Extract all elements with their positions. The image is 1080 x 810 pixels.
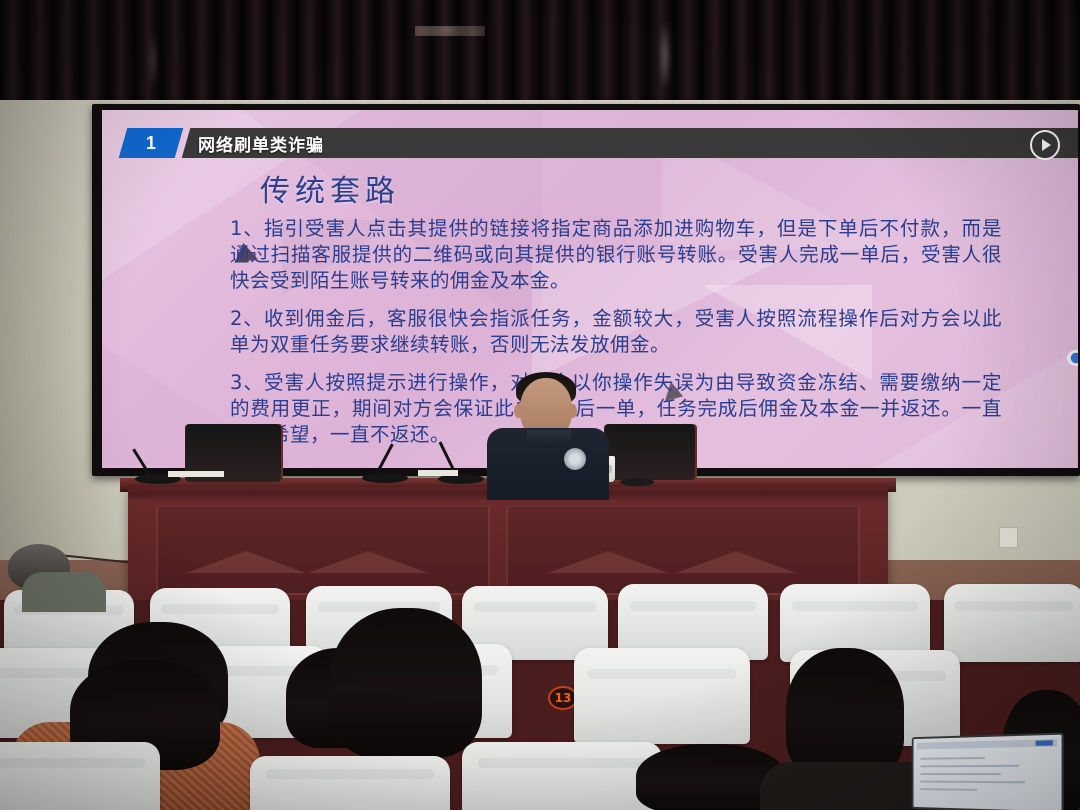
podium-chevron — [548, 551, 668, 573]
section-number-text: 1 — [146, 133, 156, 154]
slide-paragraph-2: 2、收到佣金后，客服很快会指派任务，金额较大，受害人按照流程操作后对方会以此单为… — [230, 306, 1002, 358]
laptop-accent-icon — [1036, 740, 1053, 746]
speaker-badge-icon — [564, 448, 586, 470]
podium-chevron — [676, 551, 796, 573]
projector-screen-frame: 1 网络刷单类诈骗 传统套路 1、指引受害人点击其提供的链接将指定商品添加进购物… — [92, 104, 1080, 476]
ceiling-lights — [415, 26, 485, 36]
podium-chevron — [308, 551, 428, 573]
lecture-hall-photo: 1 网络刷单类诈骗 传统套路 1、指引受害人点击其提供的链接将指定商品添加进购物… — [0, 0, 1080, 810]
podium-chevron — [186, 551, 306, 573]
speaker-collar — [527, 430, 571, 448]
laptop-text-line — [920, 788, 977, 791]
slide-heading: 传统套路 — [260, 166, 400, 210]
stage-curtain — [0, 0, 1080, 112]
play-icon[interactable] — [1030, 130, 1060, 160]
stage-chair-right — [605, 424, 695, 480]
curtain-highlight — [660, 18, 670, 93]
laptop-text-line — [920, 773, 1000, 775]
podium-panel-left — [156, 505, 490, 595]
seat[interactable] — [250, 756, 450, 810]
podium-panel-right — [506, 505, 860, 595]
slide-header: 1 网络刷单类诈骗 — [110, 128, 1078, 158]
equipment-base — [620, 478, 654, 486]
seat[interactable] — [574, 648, 750, 744]
laptop-text-line — [920, 757, 984, 760]
seat[interactable] — [0, 742, 160, 810]
seat[interactable] — [462, 742, 662, 810]
accent-dot-icon — [1067, 350, 1078, 366]
slide-paragraph-1: 1、指引受害人点击其提供的链接将指定商品添加进购物车，但是下单后不付款，而是通过… — [230, 216, 1002, 294]
papers-left — [168, 471, 224, 477]
speaker-ear-right — [568, 404, 577, 418]
attendee-head — [330, 608, 482, 758]
projector-screen: 1 网络刷单类诈骗 传统套路 1、指引受害人点击其提供的链接将指定商品添加进购物… — [102, 110, 1078, 468]
laptop-text-line — [920, 781, 1025, 784]
seat[interactable] — [944, 584, 1080, 662]
section-title: 网络刷单类诈骗 — [198, 128, 324, 158]
attendee-laptop-screen[interactable] — [912, 732, 1064, 810]
section-number-badge: 1 — [119, 128, 184, 158]
microphone-base-center — [362, 473, 408, 483]
speaker-ear-left — [514, 404, 523, 418]
attendee-head-laptop-user — [786, 648, 904, 778]
wall-socket-right — [999, 527, 1018, 548]
attendee-shoulders — [22, 572, 106, 612]
laptop-text-line — [920, 765, 1019, 768]
papers-right — [418, 470, 458, 476]
